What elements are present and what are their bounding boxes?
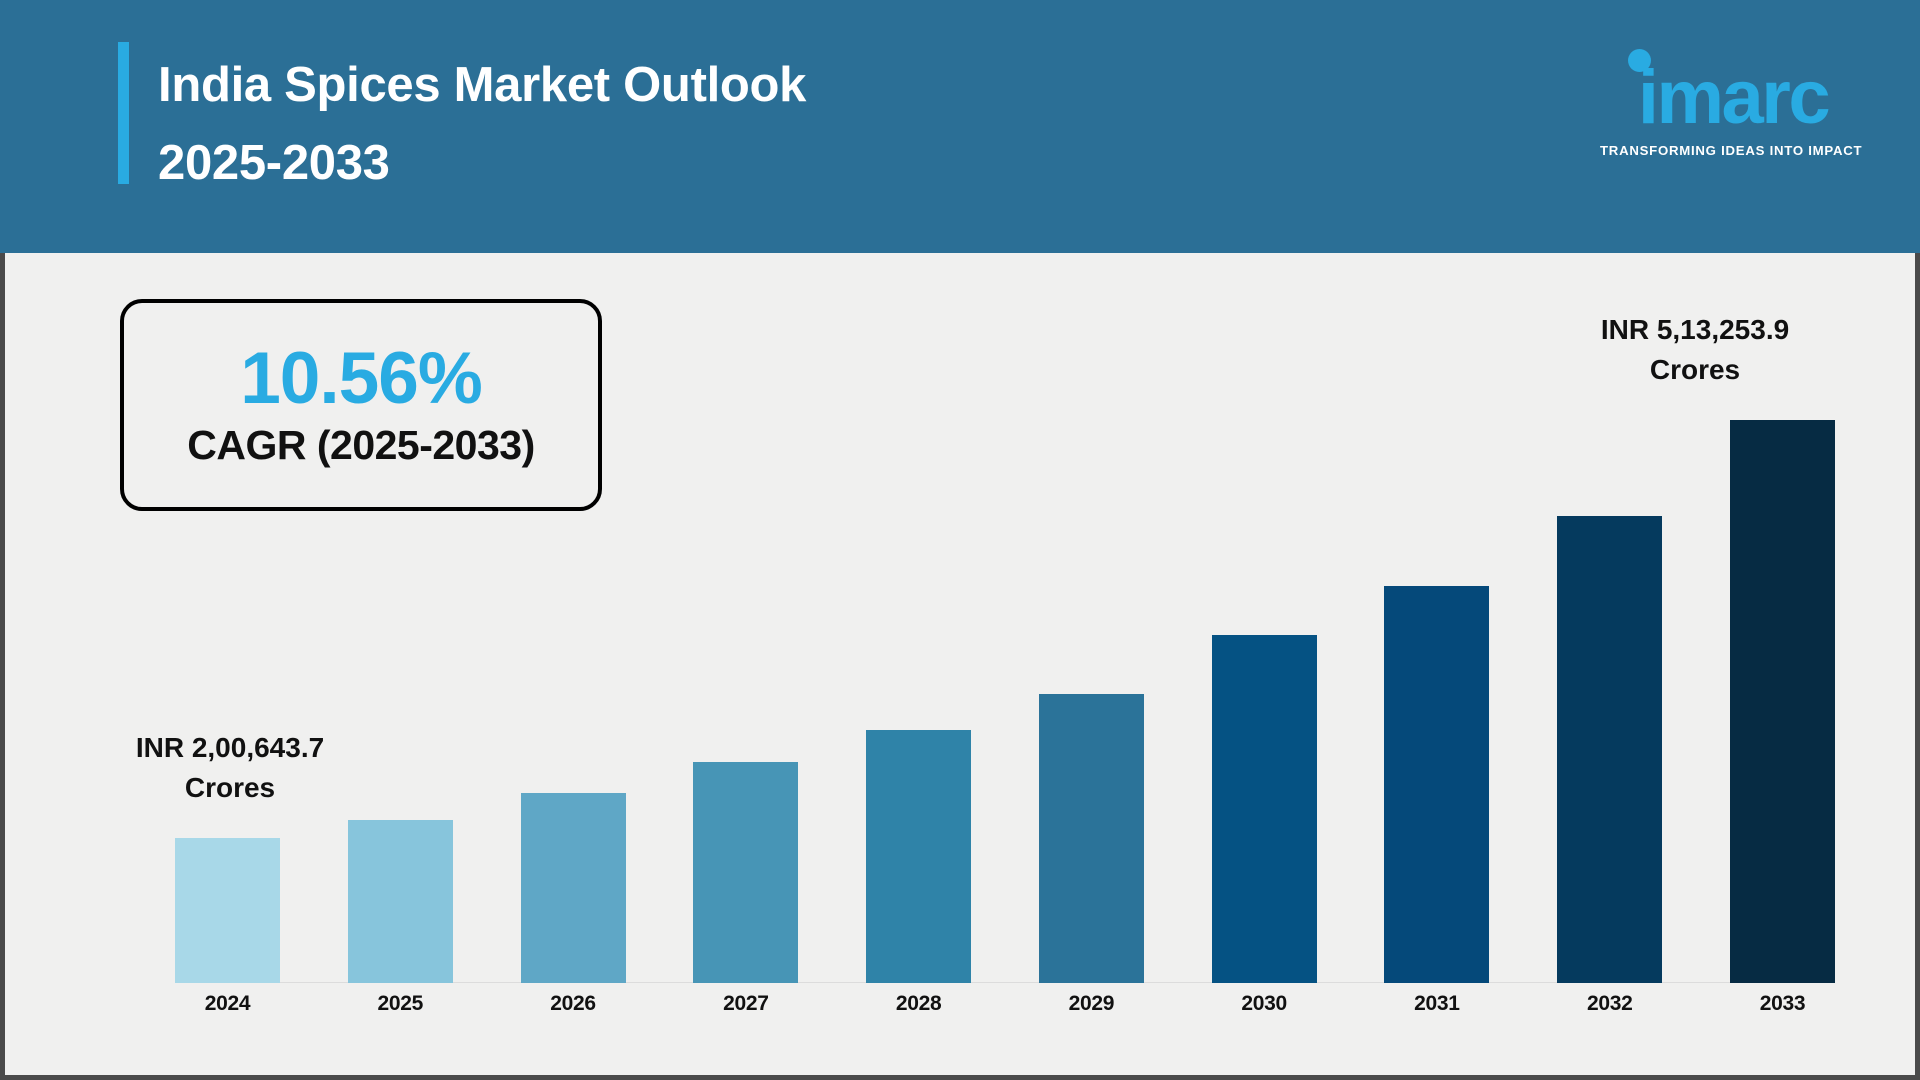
x-axis-label-2026: 2026	[521, 992, 626, 1016]
bar-2031[interactable]	[1384, 586, 1489, 983]
infographic-page: India Spices Market Outlook 2025-2033 im…	[0, 0, 1920, 1080]
bar-2027[interactable]	[693, 762, 798, 983]
title-line-2: 2025-2033	[158, 124, 1258, 202]
logo-tagline: TRANSFORMING IDEAS INTO IMPACT	[1600, 143, 1858, 158]
end-value-callout: INR 5,13,253.9 Crores	[1545, 310, 1845, 390]
bar-2024[interactable]	[175, 838, 280, 983]
x-axis-label-2025: 2025	[348, 992, 453, 1016]
x-axis-label-2031: 2031	[1384, 992, 1489, 1016]
title-line-1: India Spices Market Outlook	[158, 46, 1258, 124]
bar-2028[interactable]	[866, 730, 971, 983]
bar-2025[interactable]	[348, 820, 453, 983]
end-value-line-2: Crores	[1545, 350, 1845, 390]
x-axis-label-2024: 2024	[175, 992, 280, 1016]
header-bar: India Spices Market Outlook 2025-2033 im…	[0, 0, 1920, 253]
page-title: India Spices Market Outlook 2025-2033	[158, 46, 1258, 202]
bar-chart	[175, 390, 1835, 983]
bar-2026[interactable]	[521, 793, 626, 983]
x-axis-label-2028: 2028	[866, 992, 971, 1016]
bar-2032[interactable]	[1557, 516, 1662, 983]
x-axis-label-2033: 2033	[1730, 992, 1835, 1016]
x-axis-label-2029: 2029	[1039, 992, 1144, 1016]
end-value-line-1: INR 5,13,253.9	[1545, 310, 1845, 350]
x-axis-label-2032: 2032	[1557, 992, 1662, 1016]
accent-stripe	[118, 42, 129, 184]
bar-2033[interactable]	[1730, 420, 1835, 983]
bar-2029[interactable]	[1039, 694, 1144, 983]
imarc-logo[interactable]: imarc TRANSFORMING IDEAS INTO IMPACT	[1600, 48, 1858, 166]
x-axis-label-2030: 2030	[1212, 992, 1317, 1016]
x-axis-label-2027: 2027	[693, 992, 798, 1016]
logo-wordmark: imarc	[1608, 60, 1858, 136]
bar-2030[interactable]	[1212, 635, 1317, 983]
